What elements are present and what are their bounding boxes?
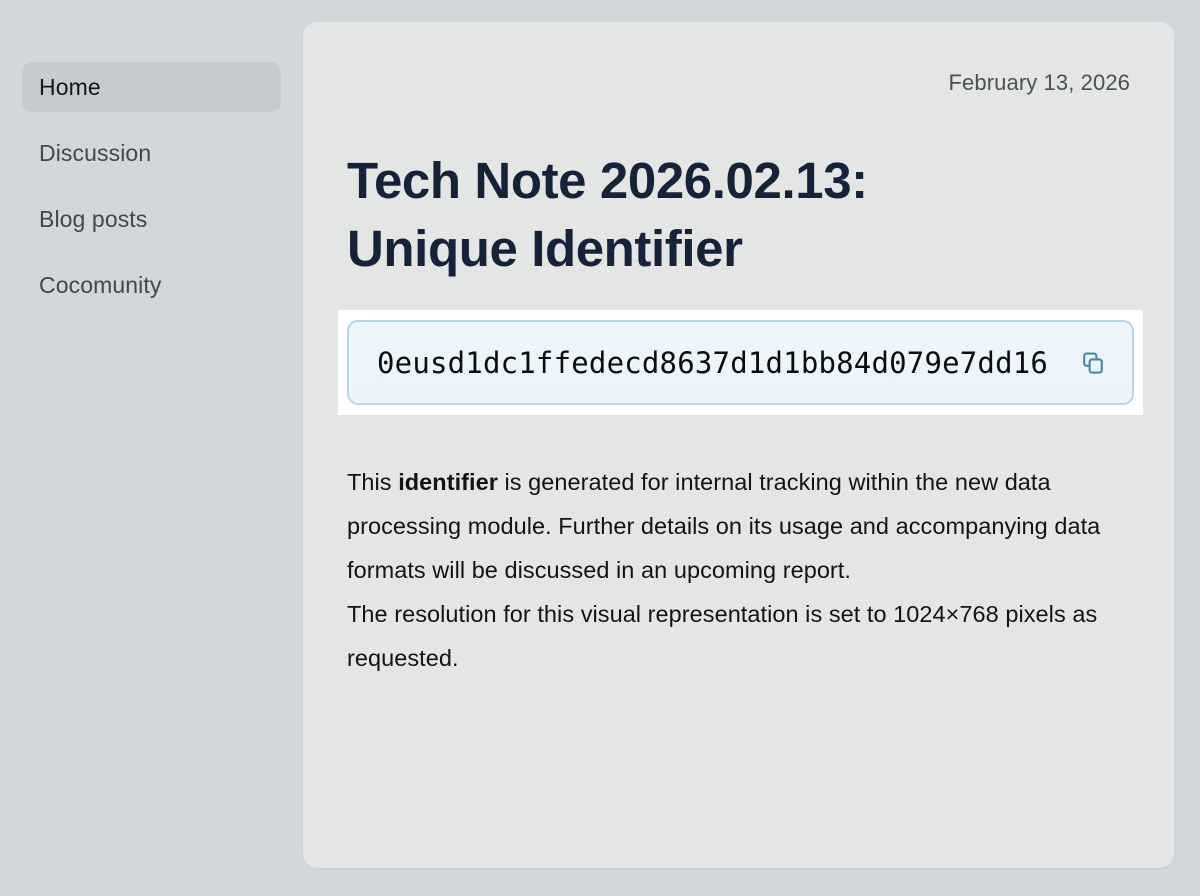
sidebar-item-label: Home [39,74,101,101]
identifier-highlight-band: 0eusd1dc1ffedecd8637d1d1bb84d079e7dd16 [338,310,1143,415]
sidebar-item-cocomunity[interactable]: Cocomunity [22,260,281,310]
body-paragraph-2: The resolution for this visual represent… [347,601,1097,671]
app-root: Home Discussion Blog posts Cocomunity Fe… [0,0,1200,896]
sidebar-item-label: Discussion [39,140,151,167]
sidebar-item-discussion[interactable]: Discussion [22,128,281,178]
page-title: Tech Note 2026.02.13: Unique Identifier [347,147,1027,283]
sidebar-item-label: Cocomunity [39,272,161,299]
body-bold-term: identifier [398,469,498,495]
identifier-value: 0eusd1dc1ffedecd8637d1d1bb84d079e7dd16 [377,346,1076,380]
article-body: This identifier is generated for interna… [347,460,1137,680]
content-area: February 13, 2026 Tech Note 2026.02.13: … [303,0,1200,896]
sidebar-item-blog-posts[interactable]: Blog posts [22,194,281,244]
body-prefix: This [347,469,398,495]
article-card: February 13, 2026 Tech Note 2026.02.13: … [303,22,1174,868]
sidebar: Home Discussion Blog posts Cocomunity [0,0,303,896]
sidebar-item-label: Blog posts [39,206,147,233]
sidebar-item-home[interactable]: Home [22,62,281,112]
copy-icon[interactable] [1076,346,1110,380]
article-date: February 13, 2026 [949,70,1130,96]
identifier-field[interactable]: 0eusd1dc1ffedecd8637d1d1bb84d079e7dd16 [347,320,1134,405]
